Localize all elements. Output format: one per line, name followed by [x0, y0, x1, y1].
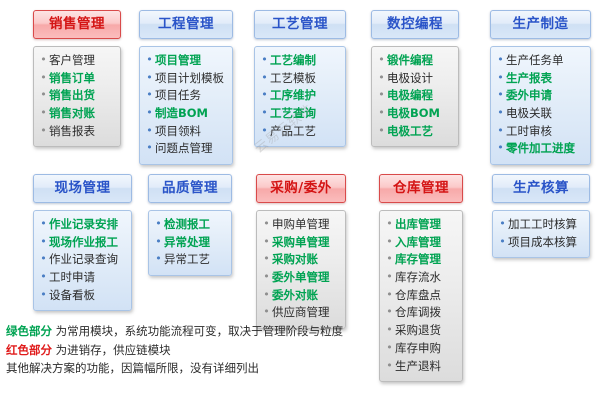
module-sales: 销售管理•客户管理•销售订单•销售出货•销售对账•销售报表: [33, 10, 121, 147]
legend-red-key: 红色部分: [6, 343, 52, 357]
module-item[interactable]: •作业记录安排: [38, 216, 127, 234]
module-item-label: 项目计划模板: [155, 70, 224, 87]
module-item[interactable]: •采购单管理: [261, 234, 341, 252]
module-header-purchasing[interactable]: 采购/委外: [256, 174, 346, 203]
module-item-label: 工艺编制: [270, 52, 316, 69]
module-item[interactable]: •委外申请: [495, 87, 586, 105]
module-item[interactable]: •项目领料: [144, 123, 228, 141]
bullet-icon: •: [144, 140, 155, 157]
module-body-warehouse: •出库管理•入库管理•库存管理•库存流水•仓库盘点•仓库调拨•采购退货•库存申购…: [379, 210, 463, 382]
bullet-icon: •: [153, 216, 164, 233]
module-item-label: 申购单管理: [272, 216, 330, 233]
module-item[interactable]: •申购单管理: [261, 216, 341, 234]
module-item-label: 制造BOM: [155, 105, 208, 122]
module-item[interactable]: •工序维护: [259, 87, 341, 105]
module-item-label: 异常处理: [164, 234, 210, 251]
module-item[interactable]: •制造BOM: [144, 105, 228, 123]
module-item[interactable]: •作业记录查询: [38, 251, 127, 269]
module-header-manufacturing[interactable]: 生产制造: [490, 10, 591, 39]
module-item-list: •客户管理•销售订单•销售出货•销售对账•销售报表: [38, 52, 116, 141]
module-item-label: 设备看板: [49, 287, 95, 304]
module-item-label: 工序维护: [270, 87, 316, 104]
module-item[interactable]: •设备看板: [38, 287, 127, 305]
bullet-icon: •: [376, 87, 387, 104]
module-item-label: 电极编程: [387, 87, 433, 104]
module-item[interactable]: •异常工艺: [153, 251, 227, 269]
module-item-label: 作业记录查询: [49, 251, 118, 268]
module-item-label: 出库管理: [395, 216, 441, 233]
module-item-label: 入库管理: [395, 234, 441, 251]
bullet-icon: •: [384, 216, 395, 233]
module-item[interactable]: •委外单管理: [261, 269, 341, 287]
bullet-icon: •: [495, 52, 506, 69]
module-engineering: 工程管理•项目管理•项目计划模板•项目任务•制造BOM•项目领料•问题点管理: [139, 10, 233, 165]
bullet-icon: •: [376, 52, 387, 69]
bullet-icon: •: [259, 87, 270, 104]
module-item-label: 工艺查询: [270, 105, 316, 122]
module-item[interactable]: •电极编程: [376, 87, 454, 105]
bullet-icon: •: [261, 216, 272, 233]
module-item-label: 销售订单: [49, 70, 95, 87]
module-item-label: 项目任务: [155, 87, 201, 104]
module-item-label: 库存流水: [395, 269, 441, 286]
bullet-icon: •: [376, 70, 387, 87]
bullet-icon: •: [38, 234, 49, 251]
module-item-label: 采购单管理: [272, 234, 330, 251]
module-header-costing[interactable]: 生产核算: [492, 174, 590, 203]
module-costing: 生产核算•加工工时核算•项目成本核算: [492, 174, 590, 258]
module-process: 工艺管理•工艺编制•工艺模板•工序维护•工艺查询•产品工艺: [254, 10, 346, 147]
module-item[interactable]: •项目任务: [144, 87, 228, 105]
module-item[interactable]: •工时申请: [38, 269, 127, 287]
module-body-shopfloor: •作业记录安排•现场作业报工•作业记录查询•工时申请•设备看板: [33, 210, 132, 312]
module-item[interactable]: •采购退货: [384, 322, 458, 340]
legend-green-text: 为常用模块，系统功能流程可变，取决于管理阶段与粒度: [52, 324, 343, 338]
module-body-purchasing: •申购单管理•采购单管理•采购对账•委外单管理•委外对账•供应商管理: [256, 210, 346, 329]
module-item-list: •申购单管理•采购单管理•采购对账•委外单管理•委外对账•供应商管理: [261, 216, 341, 322]
module-item[interactable]: •库存管理: [384, 251, 458, 269]
module-item[interactable]: •零件加工进度: [495, 140, 586, 158]
module-header-engineering[interactable]: 工程管理: [139, 10, 233, 39]
module-item-label: 库存申购: [395, 340, 441, 357]
bullet-icon: •: [384, 251, 395, 268]
bullet-icon: •: [38, 216, 49, 233]
bullet-icon: •: [384, 322, 395, 339]
module-item-label: 客户管理: [49, 52, 95, 69]
bullet-icon: •: [261, 234, 272, 251]
legend-green-key: 绿色部分: [6, 324, 52, 338]
module-quality: 品质管理•检测报工•异常处理•异常工艺: [148, 174, 232, 276]
module-header-warehouse[interactable]: 仓库管理: [379, 174, 463, 203]
module-item[interactable]: •入库管理: [384, 234, 458, 252]
module-item-label: 检测报工: [164, 216, 210, 233]
module-item-label: 零件加工进度: [506, 140, 575, 157]
module-item[interactable]: •电极工艺: [376, 123, 454, 141]
bullet-icon: •: [384, 358, 395, 375]
bullet-icon: •: [261, 287, 272, 304]
module-item[interactable]: •工艺查询: [259, 105, 341, 123]
legend-block: 绿色部分 为常用模块，系统功能流程可变，取决于管理阶段与粒度 红色部分 为进销存…: [6, 322, 343, 378]
module-item-label: 问题点管理: [155, 140, 213, 157]
module-body-engineering: •项目管理•项目计划模板•项目任务•制造BOM•项目领料•问题点管理: [139, 46, 233, 165]
bullet-icon: •: [38, 105, 49, 122]
module-item[interactable]: •工时审核: [495, 123, 586, 141]
bullet-icon: •: [38, 269, 49, 286]
module-item-label: 生产报表: [506, 70, 552, 87]
module-body-sales: •客户管理•销售订单•销售出货•销售对账•销售报表: [33, 46, 121, 148]
module-item-label: 现场作业报工: [49, 234, 118, 251]
module-header-cnc[interactable]: 数控编程: [371, 10, 459, 39]
module-item-label: 工时审核: [506, 123, 552, 140]
module-item-label: 电极设计: [387, 70, 433, 87]
bullet-icon: •: [259, 70, 270, 87]
module-item[interactable]: •工艺编制: [259, 52, 341, 70]
bullet-icon: •: [259, 123, 270, 140]
bullet-icon: •: [495, 140, 506, 157]
module-item[interactable]: •项目计划模板: [144, 70, 228, 88]
bullet-icon: •: [384, 340, 395, 357]
module-item[interactable]: •现场作业报工: [38, 234, 127, 252]
module-item[interactable]: •生产报表: [495, 70, 586, 88]
module-item-label: 异常工艺: [164, 251, 210, 268]
module-item-label: 电极工艺: [387, 123, 433, 140]
module-item[interactable]: •销售出货: [38, 87, 116, 105]
module-item-label: 锻件编程: [387, 52, 433, 69]
module-item-label: 电极BOM: [387, 105, 440, 122]
module-item-list: •加工工时核算•项目成本核算: [497, 216, 585, 251]
module-item-label: 销售报表: [49, 123, 95, 140]
module-item-label: 委外申请: [506, 87, 552, 104]
module-item[interactable]: •生产任务单: [495, 52, 586, 70]
module-item-list: •项目管理•项目计划模板•项目任务•制造BOM•项目领料•问题点管理: [144, 52, 228, 158]
bullet-icon: •: [144, 52, 155, 69]
module-item[interactable]: •库存流水: [384, 269, 458, 287]
module-item-label: 采购退货: [395, 322, 441, 339]
module-item[interactable]: •项目管理: [144, 52, 228, 70]
module-shopfloor: 现场管理•作业记录安排•现场作业报工•作业记录查询•工时申请•设备看板: [33, 174, 132, 311]
bullet-icon: •: [153, 234, 164, 251]
module-item[interactable]: •仓库调拨: [384, 304, 458, 322]
module-item-label: 委外单管理: [272, 269, 330, 286]
module-item[interactable]: •销售对账: [38, 105, 116, 123]
module-item[interactable]: •问题点管理: [144, 140, 228, 158]
module-item-label: 委外对账: [272, 287, 318, 304]
bullet-icon: •: [259, 105, 270, 122]
module-item[interactable]: •产品工艺: [259, 123, 341, 141]
bullet-icon: •: [38, 287, 49, 304]
module-item-label: 工时申请: [49, 269, 95, 286]
module-item-label: 项目领料: [155, 123, 201, 140]
module-item-label: 销售对账: [49, 105, 95, 122]
legend-line-red: 红色部分 为进销存，供应链模块: [6, 341, 343, 360]
module-item[interactable]: •锻件编程: [376, 52, 454, 70]
bullet-icon: •: [261, 251, 272, 268]
module-item-list: •作业记录安排•现场作业报工•作业记录查询•工时申请•设备看板: [38, 216, 127, 305]
module-item-list: •生产任务单•生产报表•委外申请•电极关联•工时审核•零件加工进度: [495, 52, 586, 158]
legend-line-note: 其他解决方案的功能，因篇幅所限，没有详细列出: [6, 359, 343, 378]
module-item-list: •锻件编程•电极设计•电极编程•电极BOM•电极工艺: [376, 52, 454, 141]
module-item-label: 采购对账: [272, 251, 318, 268]
bullet-icon: •: [144, 70, 155, 87]
module-warehouse: 仓库管理•出库管理•入库管理•库存管理•库存流水•仓库盘点•仓库调拨•采购退货•…: [379, 174, 463, 382]
bullet-icon: •: [384, 287, 395, 304]
bullet-icon: •: [38, 123, 49, 140]
module-item-label: 产品工艺: [270, 123, 316, 140]
module-item[interactable]: •客户管理: [38, 52, 116, 70]
module-item[interactable]: •工艺模板: [259, 70, 341, 88]
bullet-icon: •: [144, 87, 155, 104]
module-item-list: •出库管理•入库管理•库存管理•库存流水•仓库盘点•仓库调拨•采购退货•库存申购…: [384, 216, 458, 375]
bullet-icon: •: [38, 70, 49, 87]
module-body-costing: •加工工时核算•项目成本核算: [492, 210, 590, 258]
bullet-icon: •: [495, 70, 506, 87]
module-header-shopfloor[interactable]: 现场管理: [33, 174, 132, 203]
module-item[interactable]: •电极关联: [495, 105, 586, 123]
bullet-icon: •: [384, 234, 395, 251]
module-item-label: 加工工时核算: [508, 216, 577, 233]
module-item-label: 作业记录安排: [49, 216, 118, 233]
module-header-sales[interactable]: 销售管理: [33, 10, 121, 39]
module-item-label: 工艺模板: [270, 70, 316, 87]
module-item-label: 供应商管理: [272, 304, 330, 321]
module-item[interactable]: •销售报表: [38, 123, 116, 141]
bullet-icon: •: [495, 87, 506, 104]
module-header-quality[interactable]: 品质管理: [148, 174, 232, 203]
bullet-icon: •: [144, 105, 155, 122]
module-item[interactable]: •异常处理: [153, 234, 227, 252]
module-body-process: •工艺编制•工艺模板•工序维护•工艺查询•产品工艺: [254, 46, 346, 148]
bullet-icon: •: [144, 123, 155, 140]
module-item-label: 生产退料: [395, 358, 441, 375]
legend-line-green: 绿色部分 为常用模块，系统功能流程可变，取决于管理阶段与粒度: [6, 322, 343, 341]
bullet-icon: •: [384, 304, 395, 321]
module-item-label: 销售出货: [49, 87, 95, 104]
module-item[interactable]: •生产退料: [384, 358, 458, 376]
bullet-icon: •: [384, 269, 395, 286]
module-manufacturing: 生产制造•生产任务单•生产报表•委外申请•电极关联•工时审核•零件加工进度: [490, 10, 591, 165]
module-item[interactable]: •库存申购: [384, 340, 458, 358]
bullet-icon: •: [38, 87, 49, 104]
module-item[interactable]: •委外对账: [261, 287, 341, 305]
diagram-canvas: 云易云软件 销售管理•客户管理•销售订单•销售出货•销售对账•销售报表工程管理•…: [0, 0, 600, 400]
module-item-label: 项目管理: [155, 52, 201, 69]
module-item-list: •检测报工•异常处理•异常工艺: [153, 216, 227, 269]
module-item[interactable]: •电极BOM: [376, 105, 454, 123]
module-item-list: •工艺编制•工艺模板•工序维护•工艺查询•产品工艺: [259, 52, 341, 141]
module-item-label: 库存管理: [395, 251, 441, 268]
module-body-cnc: •锻件编程•电极设计•电极编程•电极BOM•电极工艺: [371, 46, 459, 148]
bullet-icon: •: [38, 251, 49, 268]
bullet-icon: •: [38, 52, 49, 69]
module-item[interactable]: •采购对账: [261, 251, 341, 269]
module-cnc: 数控编程•锻件编程•电极设计•电极编程•电极BOM•电极工艺: [371, 10, 459, 147]
module-item-label: 项目成本核算: [508, 234, 577, 251]
module-item[interactable]: •出库管理: [384, 216, 458, 234]
module-body-manufacturing: •生产任务单•生产报表•委外申请•电极关联•工时审核•零件加工进度: [490, 46, 591, 165]
bullet-icon: •: [497, 216, 508, 233]
module-body-quality: •检测报工•异常处理•异常工艺: [148, 210, 232, 276]
bullet-icon: •: [495, 123, 506, 140]
module-item[interactable]: •仓库盘点: [384, 287, 458, 305]
bullet-icon: •: [376, 105, 387, 122]
module-item-label: 电极关联: [506, 105, 552, 122]
bullet-icon: •: [259, 52, 270, 69]
legend-red-text: 为进销存，供应链模块: [52, 343, 171, 357]
module-item[interactable]: •销售订单: [38, 70, 116, 88]
module-item[interactable]: •供应商管理: [261, 304, 341, 322]
module-purchasing: 采购/委外•申购单管理•采购单管理•采购对账•委外单管理•委外对账•供应商管理: [256, 174, 346, 329]
bullet-icon: •: [495, 105, 506, 122]
module-item-label: 仓库调拨: [395, 304, 441, 321]
bullet-icon: •: [261, 269, 272, 286]
module-item-label: 仓库盘点: [395, 287, 441, 304]
module-header-process[interactable]: 工艺管理: [254, 10, 346, 39]
module-item-label: 生产任务单: [506, 52, 564, 69]
module-item[interactable]: •项目成本核算: [497, 234, 585, 252]
bullet-icon: •: [376, 123, 387, 140]
bullet-icon: •: [153, 251, 164, 268]
bullet-icon: •: [261, 304, 272, 321]
bullet-icon: •: [497, 234, 508, 251]
module-item[interactable]: •电极设计: [376, 70, 454, 88]
module-item[interactable]: •加工工时核算: [497, 216, 585, 234]
module-item[interactable]: •检测报工: [153, 216, 227, 234]
